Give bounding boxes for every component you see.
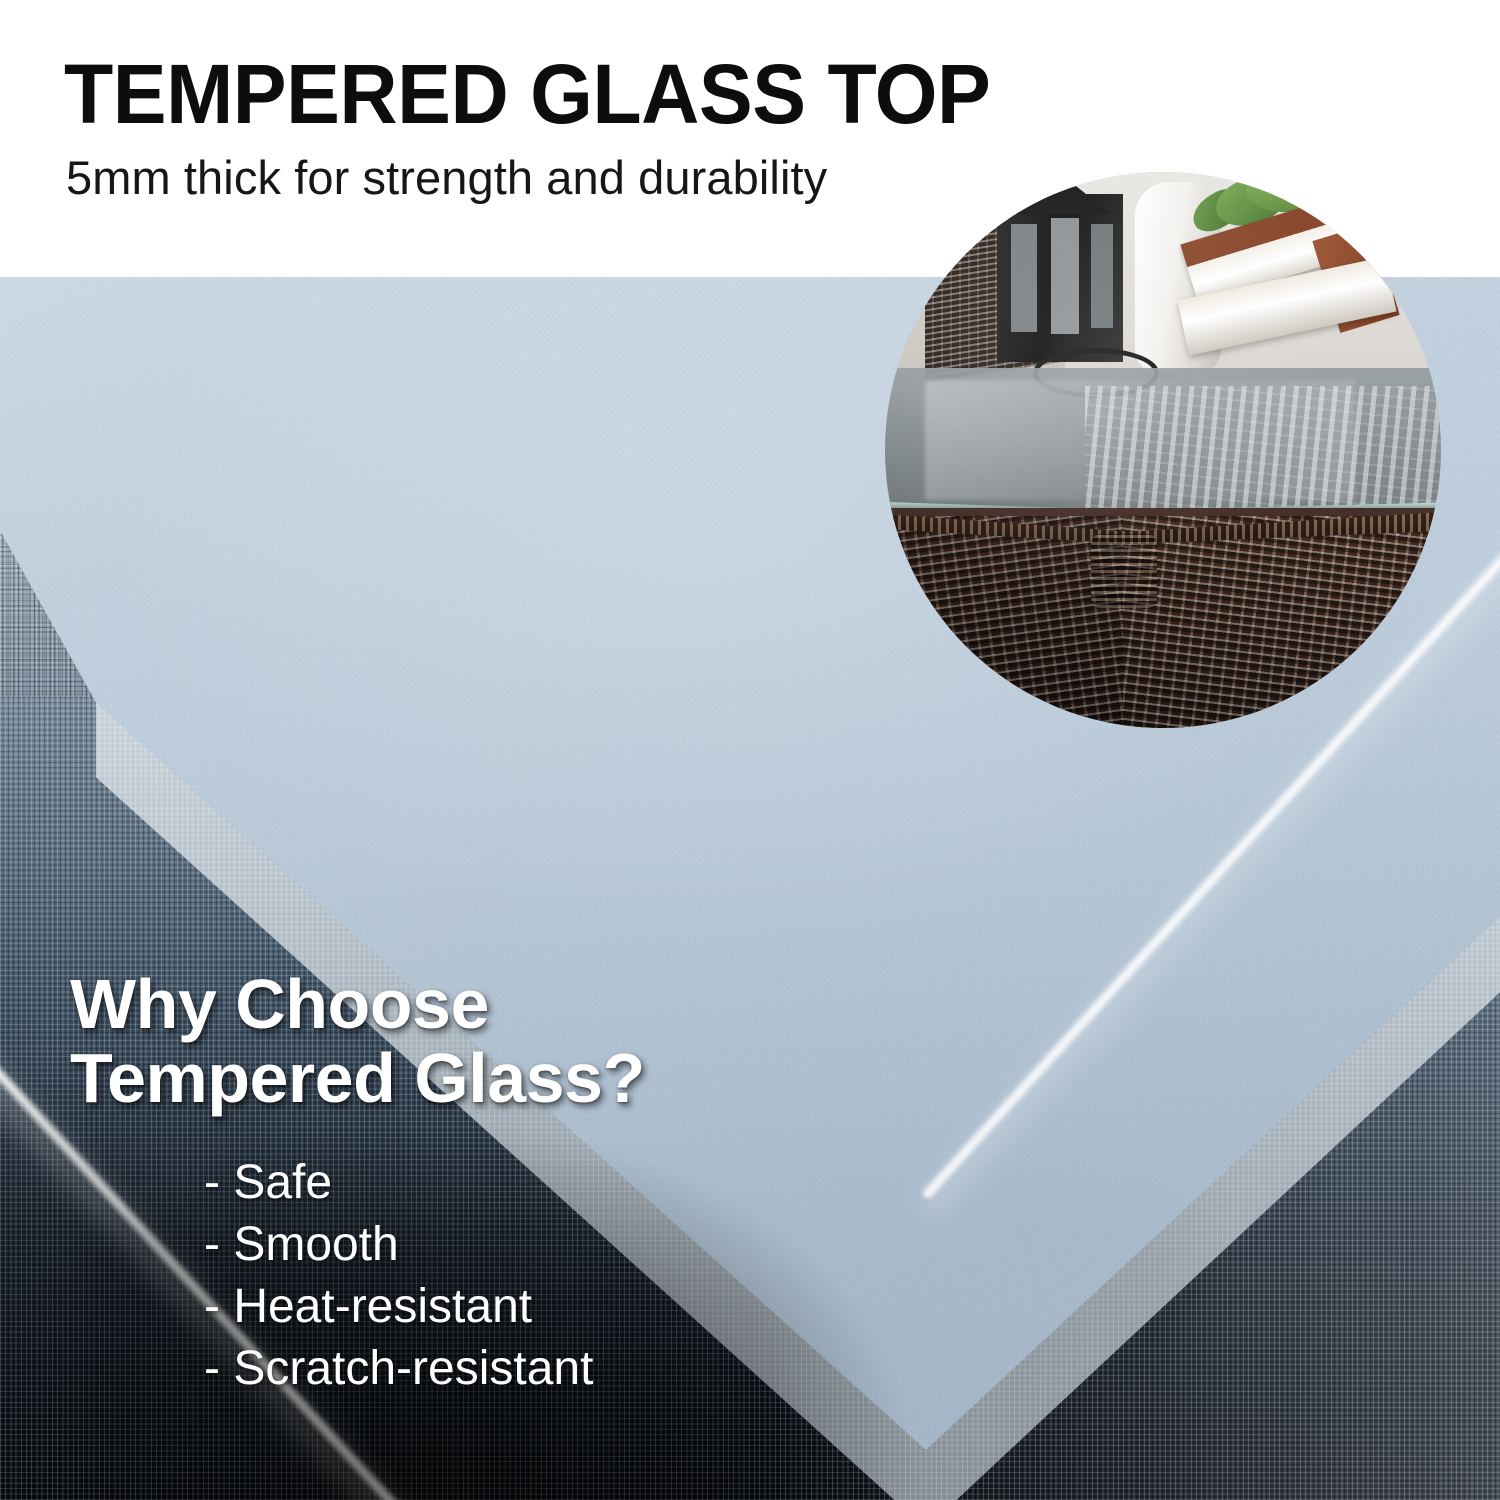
infographic-canvas: TEMPERED GLASS TOP 5mm thick for strengt… — [0, 0, 1500, 1500]
benefits-heading-line2: Tempered Glass? — [70, 1041, 830, 1115]
benefits-list: - Safe - Smooth - Heat-resistant - Scrat… — [204, 1152, 904, 1400]
benefit-item: - Scratch-resistant — [204, 1338, 904, 1400]
benefit-item: - Heat-resistant — [204, 1276, 904, 1338]
page-subtitle: 5mm thick for strength and durability — [66, 150, 827, 206]
photo-shading-overlay — [885, 172, 1441, 728]
benefit-item: - Smooth — [204, 1214, 904, 1276]
benefits-heading-line1: Why Choose — [70, 967, 830, 1041]
benefit-item: - Safe — [204, 1152, 904, 1214]
benefits-heading: Why Choose Tempered Glass? — [70, 967, 830, 1115]
product-photo-circle — [885, 172, 1441, 728]
page-title: TEMPERED GLASS TOP — [64, 50, 990, 138]
